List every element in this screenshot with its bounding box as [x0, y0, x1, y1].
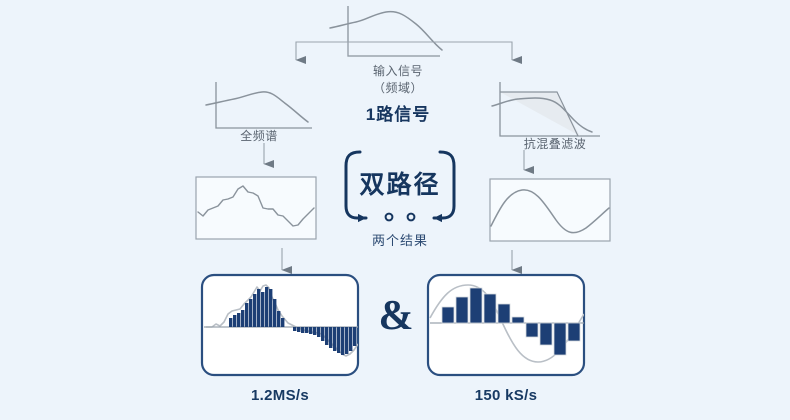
split-connector: [296, 42, 512, 60]
full-spectrum-chart: [206, 82, 312, 128]
rate-label-right: 150 kS/s: [428, 387, 584, 404]
diagram-canvas: 输入信号 （频域） 1路信号 全频谱 抗混叠滤波 双路径 两个结果 & 1.2M…: [0, 0, 790, 420]
result-box-low-rate: [428, 275, 584, 375]
rate-label-left: 1.2MS/s: [202, 387, 358, 404]
one-signal-label: 1路信号: [318, 100, 478, 125]
noisy-waveform-box: [196, 177, 316, 239]
two-results-label: 两个结果: [345, 230, 455, 249]
input-signal-label-line1: 输入信号: [318, 62, 478, 79]
ampersand-symbol: &: [374, 292, 418, 340]
sine-waveform-box: [490, 179, 610, 241]
result-box-high-rate: [202, 275, 358, 375]
input-signal-chart: [330, 6, 442, 56]
full-spectrum-label: 全频谱: [204, 127, 314, 144]
antialias-filter-chart: [492, 82, 600, 136]
input-signal-label-line2: （频域）: [318, 79, 478, 96]
dual-path-title: 双路径: [345, 165, 455, 201]
antialias-filter-label: 抗混叠滤波: [490, 135, 620, 152]
